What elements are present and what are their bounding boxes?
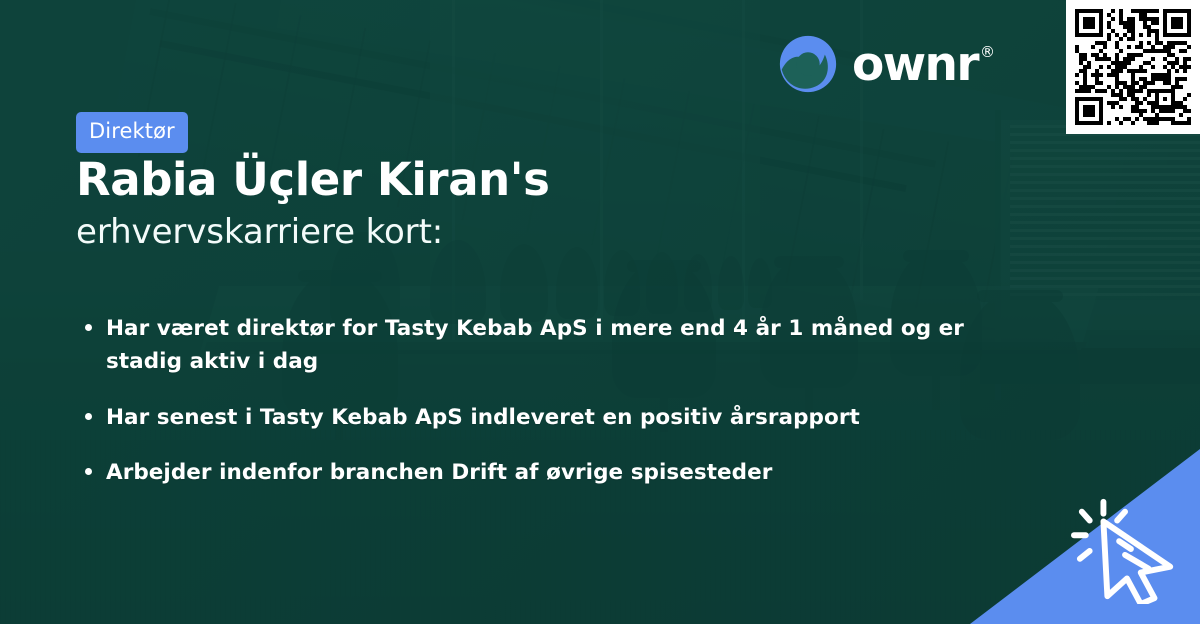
ownr-logo: ownr® — [778, 34, 978, 94]
ownr-wordmark: ownr® — [852, 41, 978, 88]
list-item-text: Har været direktør for Tasty Kebab ApS i… — [106, 316, 964, 374]
page-title: Rabia Üçler Kiran's — [76, 155, 550, 205]
career-card: Direktør Rabia Üçler Kiran's erhvervskar… — [0, 0, 1200, 624]
bullet-dot-icon — [85, 324, 92, 331]
qr-code-icon[interactable] — [1075, 9, 1191, 125]
role-badge: Direktør — [76, 112, 188, 153]
bullet-dot-icon — [85, 413, 92, 420]
registered-trademark-icon: ® — [980, 45, 995, 60]
ownr-circular-swoosh-icon — [778, 34, 838, 94]
list-item: Har været direktør for Tasty Kebab ApS i… — [78, 312, 978, 379]
wordmark-text: ownr — [852, 37, 978, 92]
list-item-text: Har senest i Tasty Kebab ApS indleveret … — [106, 405, 860, 430]
highlight-list: Har været direktør for Tasty Kebab ApS i… — [78, 312, 978, 489]
bullet-dot-icon — [85, 468, 92, 475]
qr-code-panel[interactable] — [1066, 0, 1200, 134]
list-item: Arbejder indenfor branchen Drift af øvri… — [78, 456, 978, 489]
page-subtitle: erhvervskarriere kort: — [76, 212, 443, 253]
list-item: Har senest i Tasty Kebab ApS indleveret … — [78, 401, 978, 434]
list-item-text: Arbejder indenfor branchen Drift af øvri… — [106, 460, 772, 485]
click-cursor-icon — [1068, 494, 1186, 604]
